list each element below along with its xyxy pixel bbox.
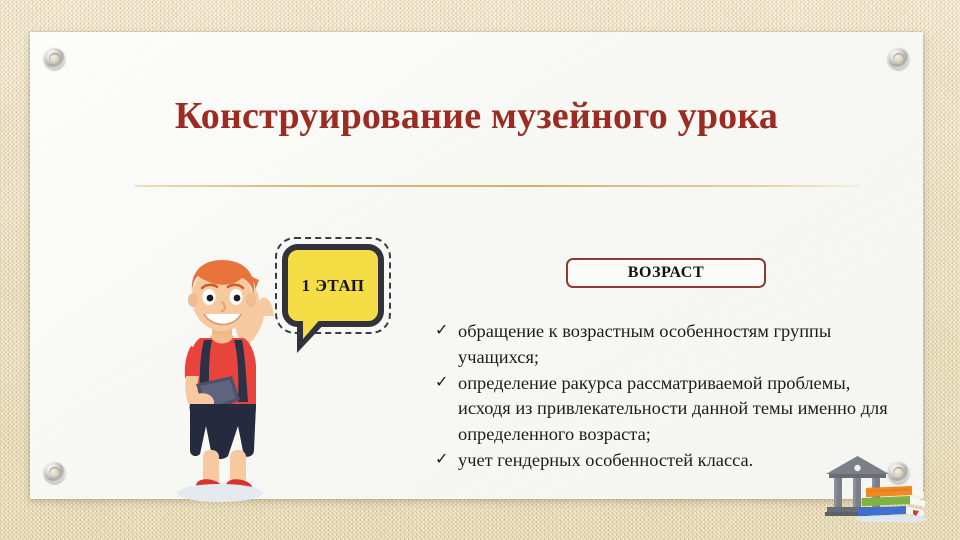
list-item: ✓ определение ракурса рассматриваемой пр… — [434, 371, 904, 448]
bubble-tail-fill — [303, 317, 322, 339]
list-item-text: определение ракурса рассматриваемой проб… — [458, 373, 888, 445]
list-item-text: обращение к возрастным особенностям груп… — [458, 321, 831, 367]
check-icon: ✓ — [435, 369, 448, 395]
boy-svg — [160, 254, 285, 509]
page-title: Конструирование музейного урока — [30, 94, 923, 138]
bubble-body: 1 ЭТАП — [282, 244, 384, 327]
age-chip-label: ВОЗРАСТ — [628, 264, 704, 282]
check-icon: ✓ — [435, 317, 448, 343]
books-svg — [854, 480, 928, 522]
age-chip: ВОЗРАСТ — [566, 258, 766, 288]
screw-icon-top-right — [888, 48, 909, 69]
waving-schoolboy-illustration — [160, 254, 285, 509]
slide-card: Конструирование музейного урока — [30, 32, 923, 499]
boy-ground-shadow — [177, 484, 263, 502]
stage-label: 1 ЭТАП — [302, 276, 365, 296]
list-item: ✓ обращение к возрастным особенностям гр… — [434, 319, 904, 371]
screw-icon-bottom-left — [44, 462, 65, 483]
screw-icon-top-left — [44, 48, 65, 69]
book-stack-icon — [854, 480, 928, 522]
bullet-list: ✓ обращение к возрастным особенностям гр… — [434, 319, 904, 474]
check-icon: ✓ — [435, 446, 448, 472]
list-item-text: учет гендерных особенностей класса. — [458, 450, 753, 470]
title-divider — [135, 185, 860, 187]
